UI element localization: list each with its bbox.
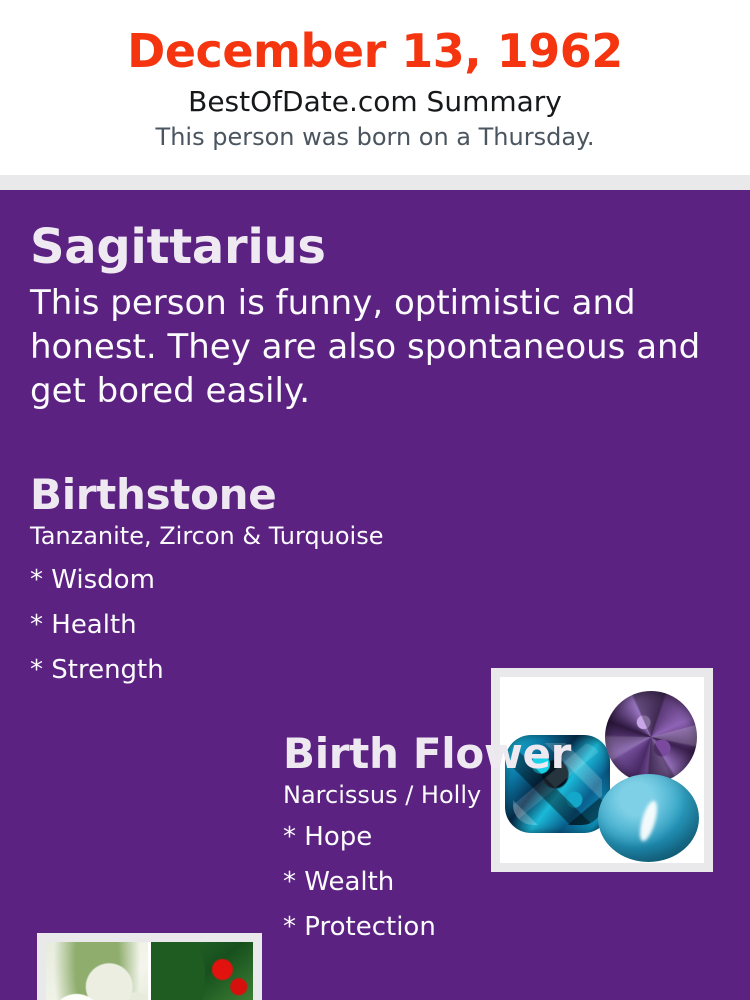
summary-panel: Sagittarius This person is funny, optimi… bbox=[0, 190, 750, 1000]
birth-flower-section: Birth Flower Narcissus / Holly * Hope * … bbox=[283, 733, 723, 959]
birthstone-title: Birthstone bbox=[30, 474, 490, 516]
list-item: * Health bbox=[30, 612, 490, 638]
birthstone-trait-list: * Wisdom * Health * Strength bbox=[30, 567, 490, 683]
list-item: * Protection bbox=[283, 914, 723, 940]
header-divider bbox=[0, 175, 750, 190]
birth-flower-photo bbox=[46, 942, 253, 1000]
birth-flower-names: Narcissus / Holly bbox=[283, 781, 723, 810]
birthstone-names: Tanzanite, Zircon & Turquoise bbox=[30, 522, 490, 551]
birth-flower-title: Birth Flower bbox=[283, 733, 723, 775]
birthstone-section: Birthstone Tanzanite, Zircon & Turquoise… bbox=[30, 474, 490, 702]
list-item: * Wealth bbox=[283, 869, 723, 895]
page-title: December 13, 1962 bbox=[0, 26, 750, 77]
holly-photo-panel bbox=[151, 942, 253, 1000]
header: December 13, 1962 BestOfDate.com Summary… bbox=[0, 0, 750, 175]
narcissus-photo-panel bbox=[46, 942, 148, 1000]
list-item: * Hope bbox=[283, 824, 723, 850]
birth-flower-photo-frame bbox=[37, 933, 262, 1000]
zodiac-description: This person is funny, optimistic and hon… bbox=[30, 281, 730, 414]
weekday-line: This person was born on a Thursday. bbox=[0, 124, 750, 152]
zodiac-section: Sagittarius This person is funny, optimi… bbox=[30, 223, 730, 414]
site-subtitle: BestOfDate.com Summary bbox=[0, 86, 750, 118]
birth-flower-trait-list: * Hope * Wealth * Protection bbox=[283, 824, 723, 940]
list-item: * Strength bbox=[30, 657, 490, 683]
zodiac-sign-name: Sagittarius bbox=[30, 223, 730, 271]
list-item: * Wisdom bbox=[30, 567, 490, 593]
